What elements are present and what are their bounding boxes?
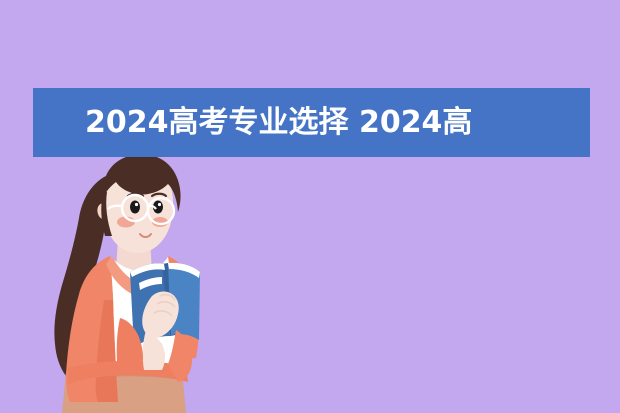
eye-left-highlight	[135, 203, 138, 206]
page-title: 2024高考专业选择 2024高	[85, 88, 585, 157]
screenshot-canvas: 2024高考专业选择 2024高	[0, 0, 620, 413]
girl-reading-book-illustration	[0, 0, 620, 413]
eye-left	[130, 201, 140, 214]
eye-right-highlight	[158, 203, 161, 206]
